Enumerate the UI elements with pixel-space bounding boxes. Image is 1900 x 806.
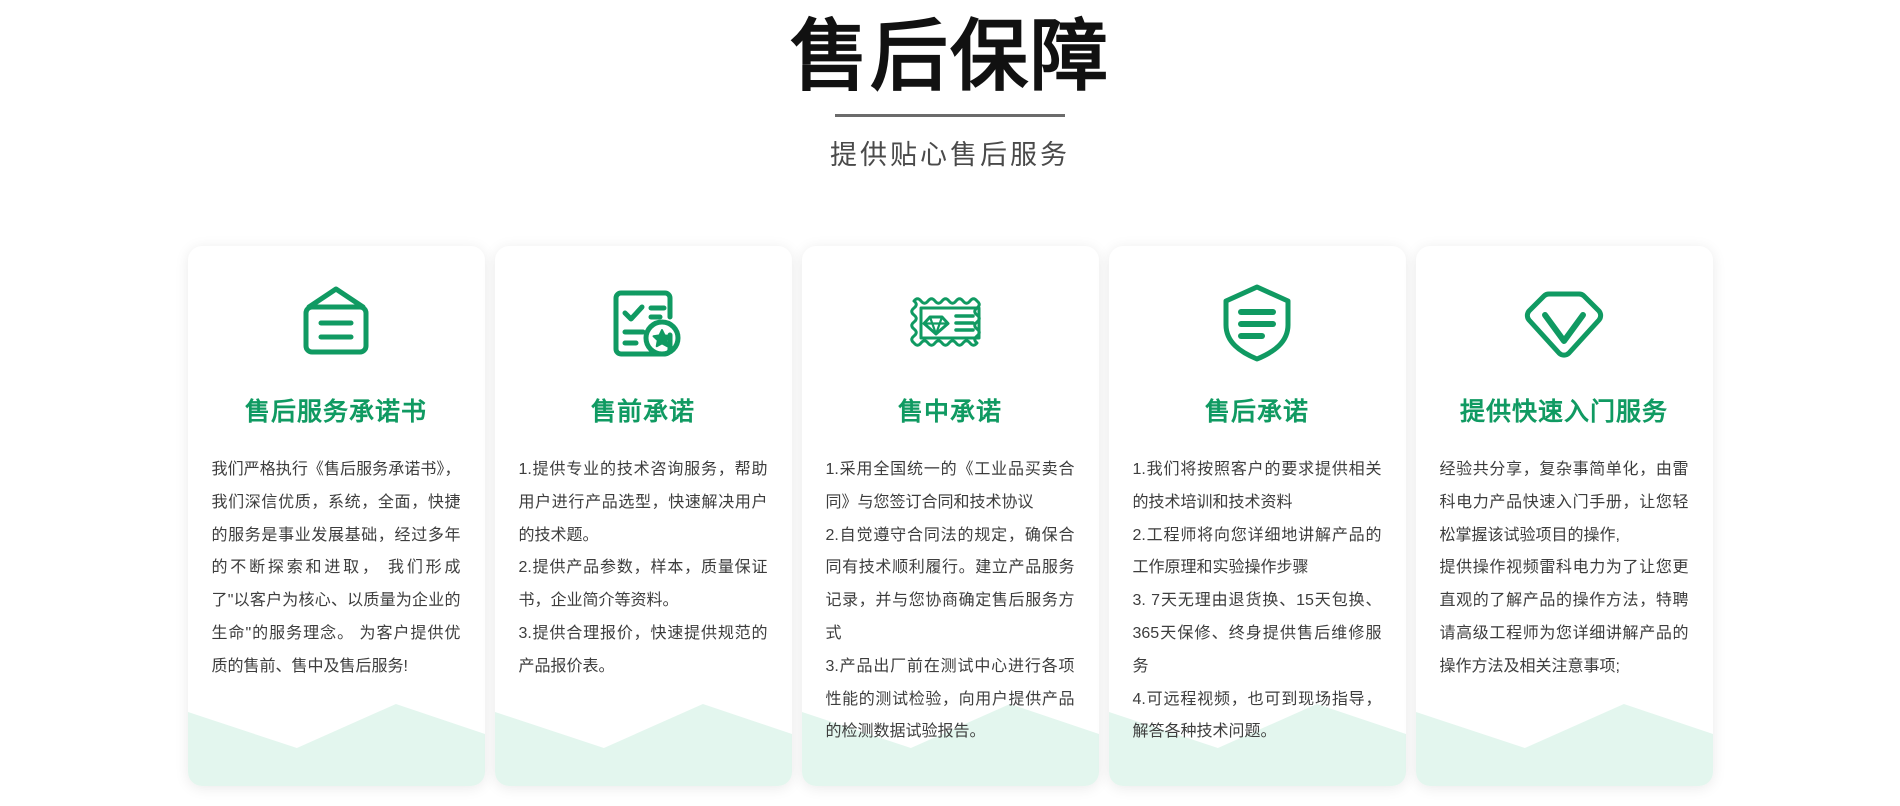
after-sales-guarantee-page: 售后保障 提供贴心售后服务 售后服务承诺书 我们严格执行《售后服务承诺书》，我们…	[0, 0, 1900, 806]
page-title: 售后保障	[0, 14, 1900, 98]
card-body: 1.采用全国统一的《工业品买卖合同》与您签订合同和技术协议2.自觉遵守合同法的规…	[826, 454, 1075, 783]
card-title: 售后承诺	[1205, 392, 1309, 428]
service-card[interactable]: 提供快速入门服务 经验共分享，复杂事简单化，由雷科电力产品快速入门手册，让您轻松…	[1416, 246, 1713, 786]
card-body: 1.提供专业的技术咨询服务，帮助用户进行产品选型，快速解决用户的技术题。2.提供…	[519, 454, 768, 718]
card-title: 提供快速入门服务	[1460, 392, 1668, 428]
stamp-diamond-icon	[906, 280, 994, 366]
card-title: 售中承诺	[898, 392, 1002, 428]
page-header: 售后保障 提供贴心售后服务	[0, 0, 1900, 172]
service-card[interactable]: 售前承诺 1.提供专业的技术咨询服务，帮助用户进行产品选型，快速解决用户的技术题…	[495, 246, 792, 786]
gem-check-icon	[1518, 280, 1610, 366]
service-card-list: 售后服务承诺书 我们严格执行《售后服务承诺书》，我们深信优质，系统，全面，快捷的…	[0, 246, 1900, 786]
checklist-star-icon	[602, 280, 684, 366]
hanging-sign-icon	[295, 280, 377, 366]
page-subtitle: 提供贴心售后服务	[0, 133, 1900, 172]
shield-lines-icon	[1217, 280, 1297, 366]
card-title: 售前承诺	[591, 392, 695, 428]
card-title: 售后服务承诺书	[245, 392, 427, 428]
card-body: 我们严格执行《售后服务承诺书》，我们深信优质，系统，全面，快捷的服务是事业发展基…	[212, 454, 461, 718]
service-card[interactable]: 售后承诺 1.我们将按照客户的要求提供相关的技术培训和技术资料2.工程师将向您详…	[1109, 246, 1406, 786]
title-divider-wrap	[0, 114, 1900, 117]
card-body: 1.我们将按照客户的要求提供相关的技术培训和技术资料2.工程师将向您详细地讲解产…	[1133, 454, 1382, 783]
service-card[interactable]: 售中承诺 1.采用全国统一的《工业品买卖合同》与您签订合同和技术协议2.自觉遵守…	[802, 246, 1099, 786]
title-divider	[835, 114, 1065, 117]
service-card[interactable]: 售后服务承诺书 我们严格执行《售后服务承诺书》，我们深信优质，系统，全面，快捷的…	[188, 246, 485, 786]
card-body: 经验共分享，复杂事简单化，由雷科电力产品快速入门手册，让您轻松掌握该试验项目的操…	[1440, 454, 1689, 718]
